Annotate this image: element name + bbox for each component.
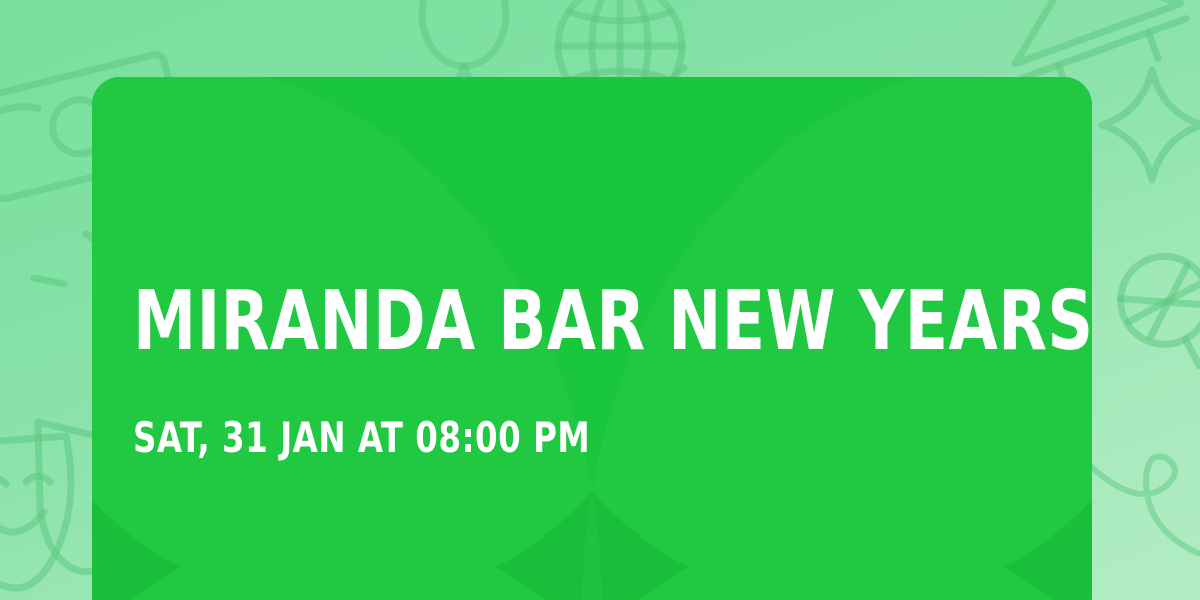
event-title: MIRANDA BAR NEW YEARS EVE — [133, 280, 1092, 364]
card-text-block: MIRANDA BAR NEW YEARS EVE SAT, 31 JAN AT… — [133, 77, 1033, 600]
event-banner: MIRANDA BAR NEW YEARS EVE SAT, 31 JAN AT… — [0, 0, 1200, 600]
event-card[interactable]: MIRANDA BAR NEW YEARS EVE SAT, 31 JAN AT… — [92, 77, 1092, 600]
event-datetime: SAT, 31 JAN AT 08:00 PM — [133, 416, 590, 460]
